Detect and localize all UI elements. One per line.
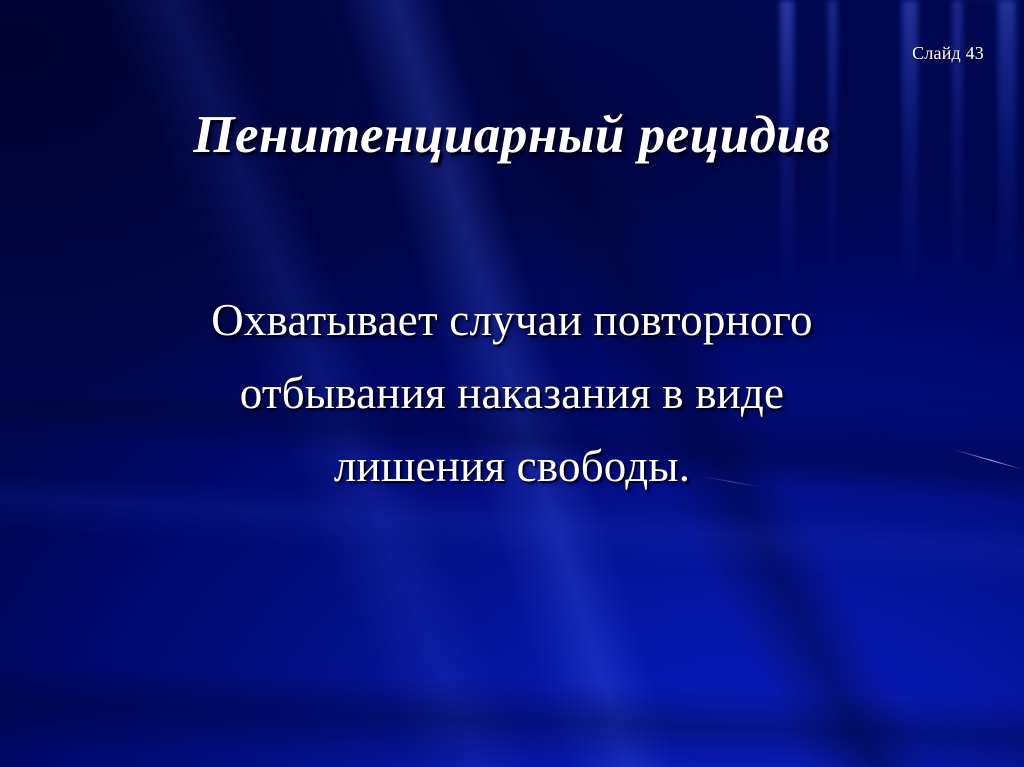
body-line: лишения свободы. <box>96 430 928 503</box>
slide-body: Охватывает случаи повторного отбывания н… <box>96 284 928 503</box>
presentation-slide: Слайд 43 Пенитенциарный рецидив Охватыва… <box>0 0 1024 767</box>
body-line: Охватывает случаи повторного <box>96 284 928 357</box>
body-line: отбывания наказания в виде <box>96 357 928 430</box>
slide-number: Слайд 43 <box>0 42 984 64</box>
page-title: Пенитенциарный рецидив <box>60 104 964 166</box>
vertical-band <box>998 0 1016 300</box>
